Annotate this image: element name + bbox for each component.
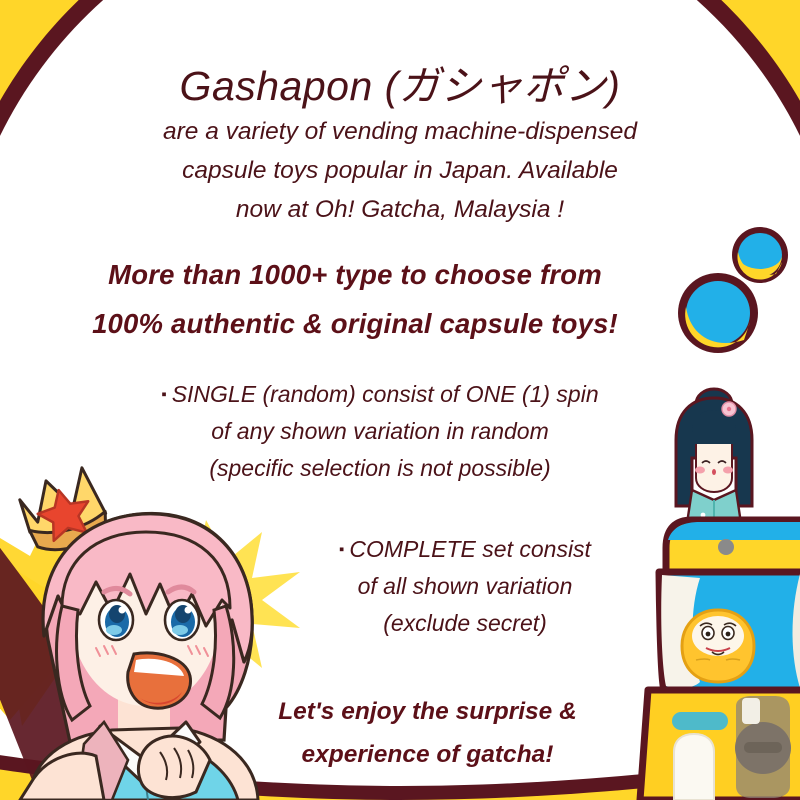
illustration-layer-front: [0, 0, 800, 800]
poster-canvas: Gashapon (ガシャポン) are a variety of vendin…: [0, 0, 800, 800]
